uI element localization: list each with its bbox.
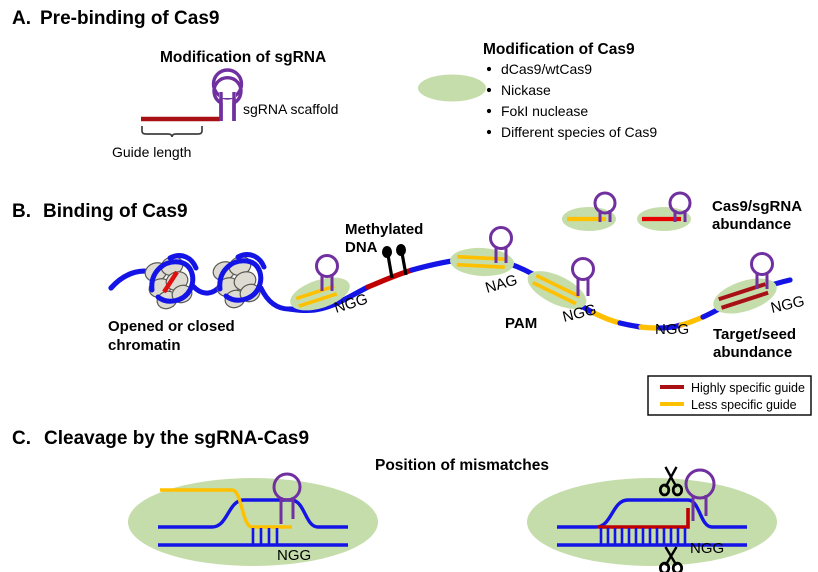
pam-label-left: NGG [277,547,311,564]
bullet-dot [487,88,491,92]
cas9-bullet-3: Different species of Cas9 [501,124,657,140]
cas9-abundance-label-2: abundance [712,216,791,233]
cas9-bullet-0: dCas9/wtCas9 [501,61,592,77]
sgrna-modification-heading: Modification of sgRNA [160,49,326,66]
methylated-dna-label-1: Methylated [345,221,423,238]
panel-b-letter: B. [12,201,31,222]
chromatin-label-line2: chromatin [108,337,181,354]
guide-length-label: Guide length [112,144,191,160]
panel-a-letter: A. [12,8,31,29]
pam-label-4: NGG [655,321,689,338]
target-seed-label-1: Target/seed [713,326,796,343]
sgrna-scaffold-label: sgRNA scaffold [243,101,338,117]
pam-heading: PAM [505,315,537,332]
cas9-ellipse-right [527,478,777,566]
crispr-specificity-figure: A. Pre-binding of Cas9 Modification of s… [0,0,818,572]
methyl-head-2 [396,244,406,256]
cas9-bullet-2: FokI nuclease [501,103,588,119]
methyl-head-1 [382,246,392,258]
panel-b-title: Binding of Cas9 [43,201,188,222]
bullet-dot [487,67,491,71]
panel-c-title: Cleavage by the sgRNA-Cas9 [44,428,309,449]
panel-c-letter: C. [12,428,31,449]
pam-label-right: NGG [690,540,724,557]
cas9-bullet-1: Nickase [501,82,551,98]
target-seed-label-2: abundance [713,344,792,361]
bullet-dot [487,130,491,134]
chromatin-label-line1: Opened or closed [108,318,235,335]
cas9-abundance-label-1: Cas9/sgRNA [712,198,802,215]
methylated-dna-label-2: DNA [345,239,378,256]
bullet-dot [487,109,491,113]
legend-label-1: Less specific guide [691,398,797,412]
legend-label-0: Highly specific guide [691,381,805,395]
mismatch-position-heading: Position of mismatches [375,457,549,474]
guide-orange-2 [457,257,505,260]
cas9-modification-heading: Modification of Cas9 [483,41,635,58]
cas9-protein-ellipse [418,75,486,102]
guide-specificity-legend: Highly specific guide Less specific guid… [648,376,811,415]
guide-orange-2b [457,265,505,268]
panel-a-title: Pre-binding of Cas9 [40,8,219,29]
